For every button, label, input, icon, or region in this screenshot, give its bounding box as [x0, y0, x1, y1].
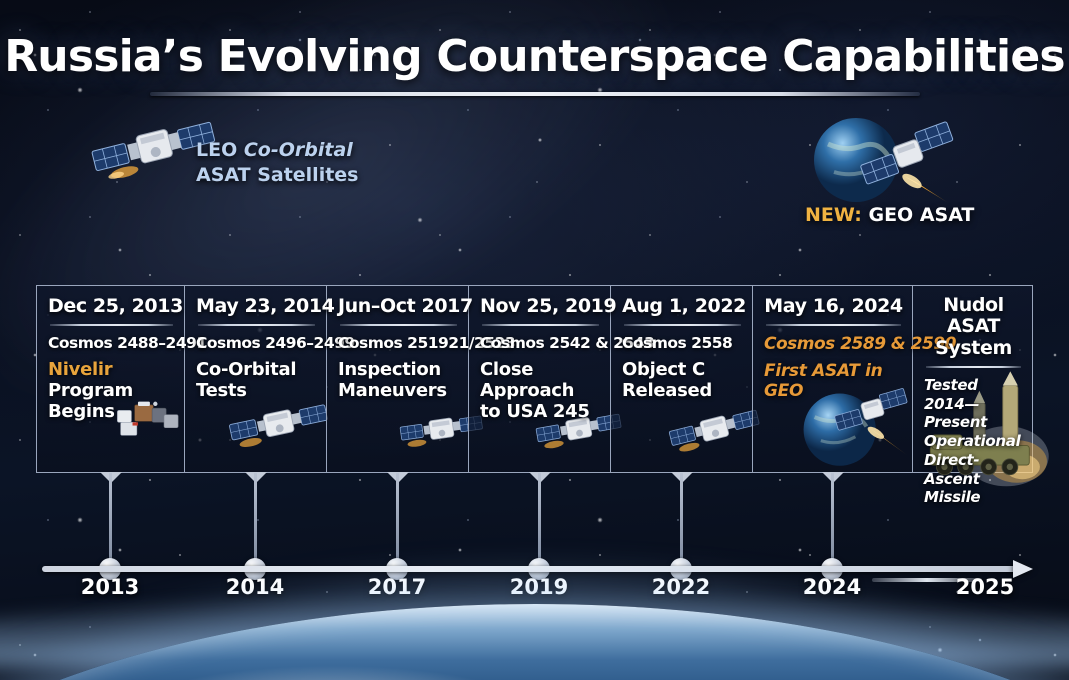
card-date: May 16, 2024: [764, 295, 903, 317]
axis-year-2024: 2024: [803, 575, 861, 599]
axis-year-2013: 2013: [81, 575, 139, 599]
card-body-line: Missile: [924, 488, 1023, 507]
timeline-card-3[interactable]: Jun–Oct 2017Cosmos 251921/2523Inspection…: [326, 285, 468, 473]
card-divider: [482, 324, 599, 326]
timeline-card-2[interactable]: May 23, 2014Cosmos 2496–2499Co-OrbitalTe…: [184, 285, 326, 473]
timeline-card-5[interactable]: Aug 1, 2022Cosmos 2558Object CReleased: [610, 285, 752, 473]
card-body: Tested2014—PresentOperationalDirect-Asce…: [924, 376, 1023, 507]
card-body-line: Direct-Ascent: [924, 451, 1023, 489]
card-divider: [50, 324, 173, 326]
geo-satellite-earth-icon: [800, 104, 970, 214]
earth-horizon: [0, 604, 1069, 680]
connector-line-4: [538, 473, 541, 566]
card-designation: Cosmos 2558: [622, 334, 743, 352]
axis-year-2025: 2025: [956, 575, 1014, 599]
card-designation: Cosmos 251921/2523: [338, 334, 459, 352]
card-body: Co-OrbitalTests: [196, 359, 317, 401]
card-body-line: to USA 245: [480, 401, 601, 422]
card-body-line: Inspection: [338, 359, 459, 380]
geo-label-text: GEO ASAT: [862, 204, 975, 226]
card-body-line: Close Approach: [480, 359, 601, 401]
card-body-line: First ASAT in GEO: [764, 361, 903, 401]
connector-line-1: [109, 473, 112, 566]
leo-callout-label: LEO Co-Orbital ASAT Satellites: [196, 138, 358, 187]
axis-year-2017: 2017: [368, 575, 426, 599]
card-designation: Cosmos 2589 & 2590: [764, 334, 903, 354]
satellite-icon: [667, 390, 763, 472]
connector-line-6: [831, 473, 834, 566]
card-body-line: Maneuvers: [338, 380, 459, 401]
timeline-axis: [42, 566, 1017, 572]
card-date: Nudol ASAT System: [924, 295, 1023, 359]
card-body-line: Object C: [622, 359, 743, 380]
card-body-line: 2014—Present: [924, 395, 1023, 433]
geo-callout-label: NEW: GEO ASAT: [805, 204, 974, 226]
title-divider: [150, 92, 920, 96]
card-date: Aug 1, 2022: [622, 295, 743, 317]
card-body: Close Approachto USA 245: [480, 359, 601, 423]
timeline-card-7[interactable]: Nudol ASAT SystemTested2014—PresentOpera…: [912, 285, 1033, 473]
card-date: Dec 25, 2013: [48, 295, 175, 317]
card-body: NivelirProgramBegins: [48, 359, 175, 423]
connector-line-2: [254, 473, 257, 566]
axis-year-2014: 2014: [226, 575, 284, 599]
page-title: Russia’s Evolving Counterspace Capabilit…: [0, 34, 1069, 80]
card-divider: [766, 324, 901, 326]
connector-line-3: [396, 473, 399, 566]
card-date: Nov 25, 2019: [480, 295, 601, 317]
card-body: First ASAT in GEO: [764, 361, 903, 401]
card-designation: Cosmos 2496–2499: [196, 334, 317, 352]
card-body-line: Released: [622, 380, 743, 401]
card-date: May 23, 2014: [196, 295, 317, 317]
card-designation: Cosmos 2542 & 2543: [480, 334, 601, 352]
timeline-card-6[interactable]: May 16, 2024Cosmos 2589 & 2590First ASAT…: [752, 285, 912, 473]
connector-line-5: [680, 473, 683, 566]
card-body-line: Tested: [924, 376, 1023, 395]
timeline-card-4[interactable]: Nov 25, 2019Cosmos 2542 & 2543Close Appr…: [468, 285, 610, 473]
card-body-line: Tests: [196, 380, 317, 401]
card-divider: [624, 324, 741, 326]
card-designation: Cosmos 2488–2491: [48, 334, 175, 352]
card-body-line: Co-Orbital: [196, 359, 317, 380]
card-body-line: Program: [48, 380, 175, 401]
card-body: InspectionManeuvers: [338, 359, 459, 401]
title-block: Russia’s Evolving Counterspace Capabilit…: [0, 34, 1069, 80]
card-highlight: Nivelir: [48, 359, 175, 380]
card-divider: [198, 324, 315, 326]
infographic-canvas: Russia’s Evolving Counterspace Capabilit…: [0, 0, 1069, 680]
leo-label-italic: Co-Orbital: [244, 139, 353, 161]
leo-label-line2: ASAT Satellites: [196, 163, 358, 188]
axis-year-2019: 2019: [510, 575, 568, 599]
timeline-cards: Dec 25, 2013Cosmos 2488–2491NivelirProgr…: [36, 285, 1033, 473]
card-divider: [926, 366, 1021, 368]
timeline-card-1[interactable]: Dec 25, 2013Cosmos 2488–2491NivelirProgr…: [36, 285, 184, 473]
axis-year-2022: 2022: [652, 575, 710, 599]
card-body-line: Operational: [924, 432, 1023, 451]
card-date: Jun–Oct 2017: [338, 295, 459, 317]
arrow-right-icon: [1013, 560, 1033, 578]
card-body: Object CReleased: [622, 359, 743, 401]
card-divider: [340, 324, 457, 326]
leo-label-prefix: LEO: [196, 139, 244, 161]
card-body-line: Begins: [48, 401, 175, 422]
geo-new-badge: NEW:: [805, 204, 862, 226]
